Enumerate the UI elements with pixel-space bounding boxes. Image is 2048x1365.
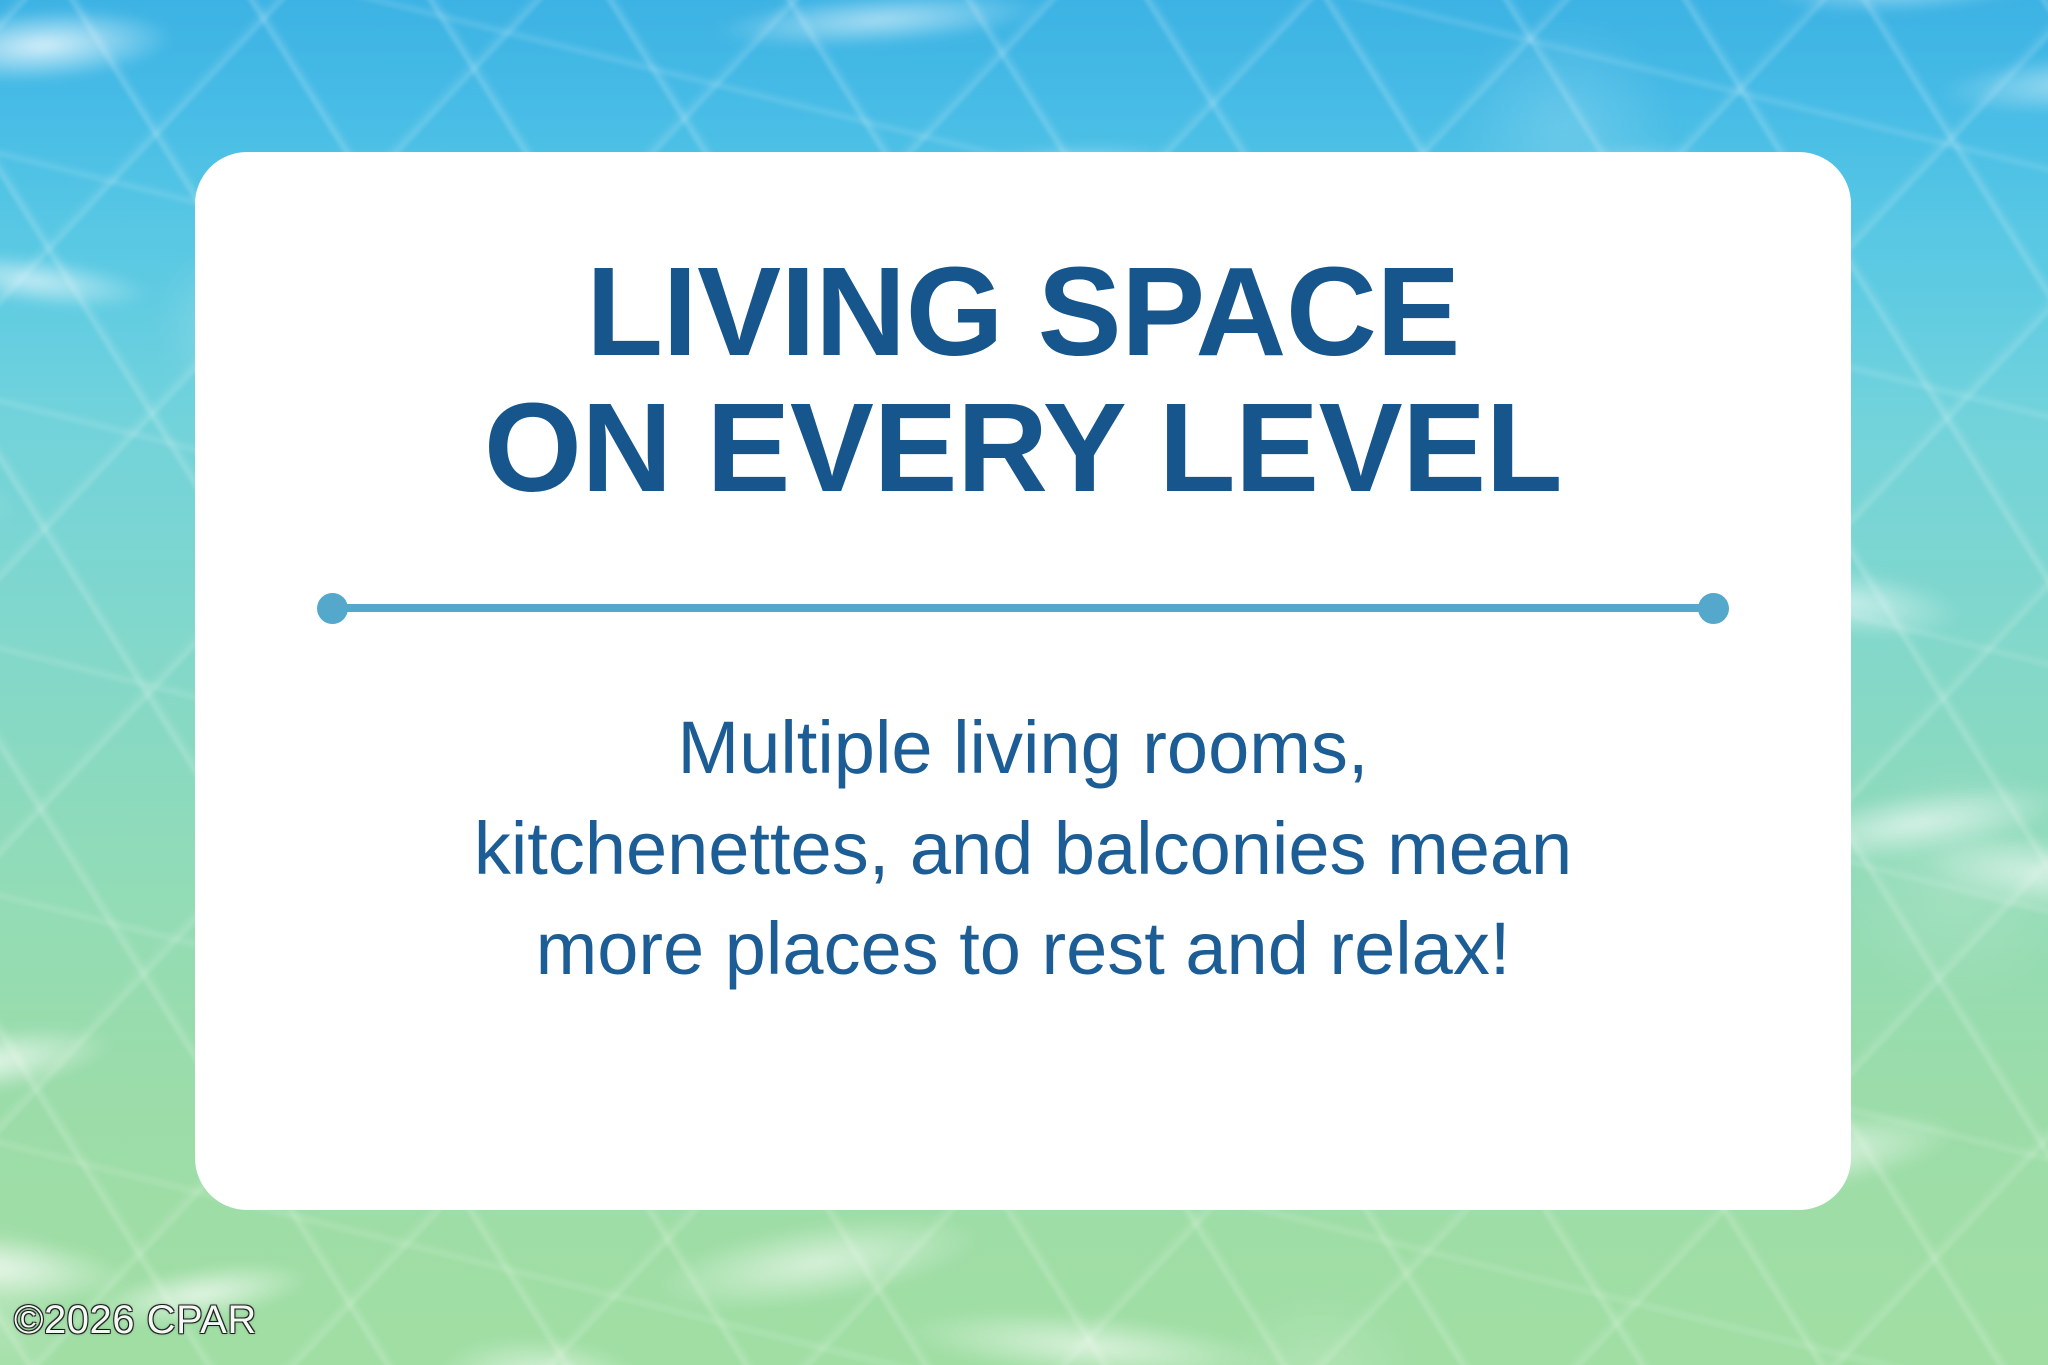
body-copy: Multiple living rooms, kitchenettes, and… xyxy=(313,698,1733,1000)
feature-card: LIVING SPACE ON EVERY LEVEL Multiple liv… xyxy=(195,152,1851,1210)
headline-line-1: LIVING SPACE xyxy=(269,244,1777,380)
headline-line-2: ON EVERY LEVEL xyxy=(269,380,1777,516)
page-title: LIVING SPACE ON EVERY LEVEL xyxy=(269,244,1777,516)
body-line-2: kitchenettes, and balconies mean xyxy=(313,799,1733,900)
divider-dot-right-icon xyxy=(1698,593,1729,624)
copyright-notice: ©2026 CPAR xyxy=(14,1298,257,1343)
divider-rule xyxy=(331,604,1715,612)
body-line-1: Multiple living rooms, xyxy=(313,698,1733,799)
body-line-3: more places to rest and relax! xyxy=(313,899,1733,1000)
decorative-divider xyxy=(317,592,1729,624)
poster-canvas: LIVING SPACE ON EVERY LEVEL Multiple liv… xyxy=(0,0,2048,1365)
divider-dot-left-icon xyxy=(317,593,348,624)
